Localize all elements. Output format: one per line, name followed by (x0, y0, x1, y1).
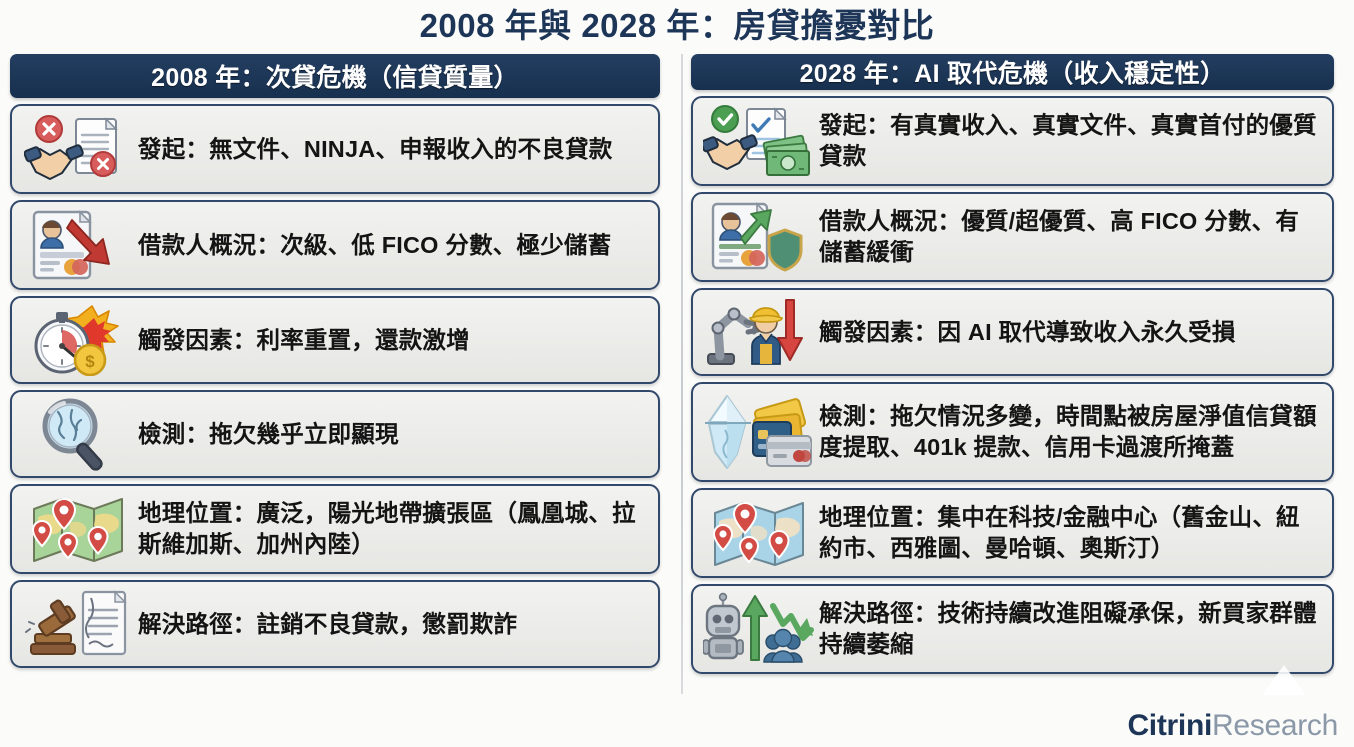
map-pins-green-icon (22, 492, 134, 566)
row-detection-2028-text: 檢測：拖欠情況多變，時間點被房屋淨值信貸額度提取、401k 提款、信用卡過渡所掩… (815, 401, 1322, 462)
page-title: 2008 年與 2028 年：房貸擔憂對比 (0, 0, 1354, 46)
row-resolution-2008-text: 解決路徑：註銷不良貸款，懲罰欺詐 (134, 609, 519, 640)
robot-arm-worker-down-arrow-icon (703, 295, 815, 369)
robot-arrows-people-icon (703, 592, 815, 666)
row-geography-2008[interactable]: 地理位置：廣泛，陽光地帶擴張區（鳳凰城、拉斯維加斯、加州內陸） (10, 484, 660, 574)
gavel-document-icon (22, 587, 134, 661)
row-resolution-2008[interactable]: 解決路徑：註銷不良貸款，懲罰欺詐 (10, 580, 660, 668)
row-trigger-2008-text: 觸發因素：利率重置，還款激增 (134, 325, 472, 356)
brand-triangle-mark (1262, 665, 1306, 695)
row-resolution-2028[interactable]: 解決路徑：技術持續改進阻礙承保，新買家群體持續萎縮 (691, 584, 1334, 674)
row-geography-2028-text: 地理位置：集中在科技/金融中心（舊金山、紐約市、西雅圖、曼哈頓、奧斯汀） (815, 502, 1322, 563)
column-divider (681, 54, 683, 694)
stopwatch-explosion-coin-icon: $ (22, 303, 134, 377)
row-geography-2008-text: 地理位置：廣泛，陽光地帶擴張區（鳳凰城、拉斯維加斯、加州內陸） (134, 498, 648, 559)
brand-logo-secondary: Research (1212, 709, 1338, 743)
row-detection-2008-text: 檢測：拖欠幾乎立即顯現 (134, 419, 401, 450)
row-origination-2008[interactable]: 發起：無文件、NINJA、申報收入的不良貸款 (10, 104, 660, 194)
row-trigger-2008[interactable]: $ 觸發因素：利率重置，還款激增 (10, 296, 660, 384)
row-borrower-2008[interactable]: 借款人概況：次級、低 FICO 分數、極少儲蓄 (10, 200, 660, 290)
comparison-columns: 2008 年：次貸危機（信貸質量） (0, 54, 1354, 674)
column-2008: 2008 年：次貸危機（信貸質量） (10, 54, 671, 674)
magnifying-glass-cracks-icon (22, 397, 134, 471)
row-borrower-2028-text: 借款人概況：優質/超優質、高 FICO 分數、有儲蓄緩衝 (815, 206, 1322, 267)
column-header-2008: 2008 年：次貸危機（信貸質量） (10, 54, 660, 98)
row-geography-2028[interactable]: 地理位置：集中在科技/金融中心（舊金山、紐約市、西雅圖、曼哈頓、奧斯汀） (691, 488, 1334, 578)
column-header-2008-label: 2008 年：次貸危機（信貸質量） (151, 58, 519, 94)
column-2028: 2028 年：AI 取代危機（收入穩定性） (671, 54, 1334, 674)
brand-logo-primary: Citrini (1127, 709, 1212, 743)
row-resolution-2028-text: 解決路徑：技術持續改進阻礙承保，新買家群體持續萎縮 (815, 598, 1322, 659)
row-borrower-2028[interactable]: 借款人概況：優質/超優質、高 FICO 分數、有儲蓄緩衝 (691, 192, 1334, 282)
row-origination-2008-text: 發起：無文件、NINJA、申報收入的不良貸款 (134, 134, 614, 165)
row-trigger-2028[interactable]: 觸發因素：因 AI 取代導致收入永久受損 (691, 288, 1334, 376)
column-header-2028: 2028 年：AI 取代危機（收入穩定性） (691, 54, 1334, 90)
row-origination-2028-text: 發起：有真實收入、真實文件、真實首付的優質貸款 (815, 110, 1322, 171)
row-borrower-2008-text: 借款人概況：次級、低 FICO 分數、極少儲蓄 (134, 230, 613, 261)
row-origination-2028[interactable]: 發起：有真實收入、真實文件、真實首付的優質貸款 (691, 96, 1334, 186)
brand-logo: CitriniResearch (1127, 709, 1338, 743)
row-detection-2028[interactable]: 檢測：拖欠情況多變，時間點被房屋淨值信貸額度提取、401k 提款、信用卡過渡所掩… (691, 382, 1334, 482)
iceberg-credit-cards-icon (703, 395, 815, 469)
column-header-2028-label: 2028 年：AI 取代危機（收入穩定性） (800, 54, 1226, 90)
map-pins-blue-icon (703, 496, 815, 570)
borrower-profile-down-arrow-icon (22, 208, 134, 282)
borrower-profile-up-arrow-shield-icon (703, 200, 815, 274)
handshake-check-money-icon (703, 104, 815, 178)
svg-text:$: $ (85, 352, 95, 371)
row-trigger-2028-text: 觸發因素：因 AI 取代導致收入永久受損 (815, 317, 1238, 348)
row-detection-2008[interactable]: 檢測：拖欠幾乎立即顯現 (10, 390, 660, 478)
handshake-document-x-icon (22, 112, 134, 186)
